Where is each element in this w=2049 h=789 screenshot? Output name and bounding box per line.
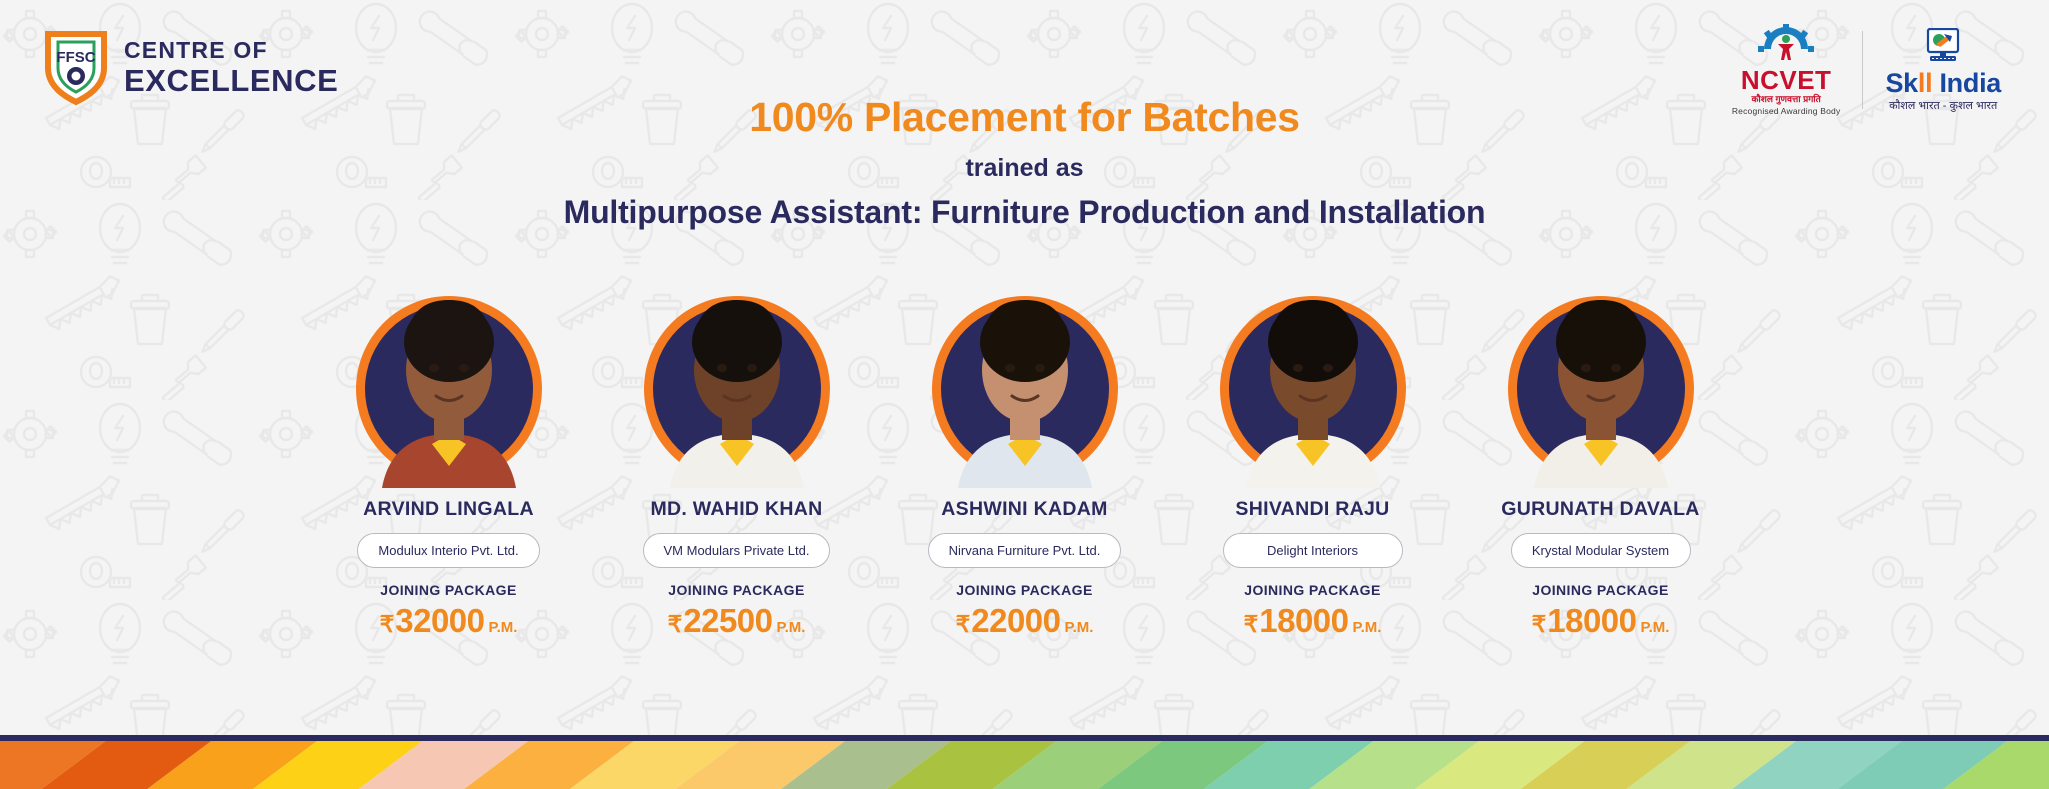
company-pill: VM Modulars Private Ltd. <box>643 533 831 568</box>
per-month-label: P.M. <box>1065 619 1094 636</box>
avatar-portrait <box>638 238 836 488</box>
package-value: 18000 <box>1547 602 1636 640</box>
avatar-shivandi <box>1220 296 1406 482</box>
per-month-label: P.M. <box>1641 619 1670 636</box>
skill-india-name-part3: India <box>1932 68 2001 98</box>
logo-title-line2: EXCELLENCE <box>124 65 338 96</box>
rupee-symbol: ₹ <box>1244 611 1259 638</box>
headline-course: Multipurpose Assistant: Furniture Produc… <box>0 194 2049 231</box>
joining-package-amount: ₹18000P.M. <box>1532 602 1670 640</box>
rupee-symbol: ₹ <box>380 611 395 638</box>
joining-package-label: JOINING PACKAGE <box>1244 582 1380 598</box>
placement-card: ARVIND LINGALAModulux Interio Pvt. Ltd.J… <box>329 296 569 640</box>
avatar-portrait <box>1214 238 1412 488</box>
avatar-portrait <box>1502 238 1700 488</box>
package-value: 22500 <box>683 602 772 640</box>
placement-card: ASHWINI KADAMNirvana Furniture Pvt. Ltd.… <box>905 296 1145 640</box>
ffsc-badge-text: FFSC <box>56 49 95 66</box>
skill-india-name: Skll India <box>1885 70 2001 97</box>
package-value: 22000 <box>971 602 1060 640</box>
joining-package-amount: ₹22000P.M. <box>956 602 1094 640</box>
person-name: MD. WAHID KHAN <box>650 498 822 521</box>
joining-package-label: JOINING PACKAGE <box>380 582 516 598</box>
person-name: SHIVANDI RAJU <box>1235 498 1389 521</box>
ffsc-centre-of-excellence-logo: FFSC CENTRE OF EXCELLENCE <box>44 28 338 106</box>
rupee-symbol: ₹ <box>956 611 971 638</box>
person-name: ARVIND LINGALA <box>363 498 534 521</box>
joining-package-amount: ₹22500P.M. <box>668 602 806 640</box>
package-value: 32000 <box>395 602 484 640</box>
per-month-label: P.M. <box>777 619 806 636</box>
headline-sub: trained as <box>0 154 2049 183</box>
logo-title-line1: CENTRE OF <box>124 39 338 62</box>
ncvet-name: NCVET <box>1741 67 1832 93</box>
company-pill: Nirvana Furniture Pvt. Ltd. <box>928 533 1122 568</box>
rupee-symbol: ₹ <box>668 611 683 638</box>
skill-india-name-part1: Sk <box>1885 68 1917 98</box>
placement-card: SHIVANDI RAJUDelight InteriorsJOINING PA… <box>1193 296 1433 640</box>
joining-package-label: JOINING PACKAGE <box>668 582 804 598</box>
shield-gear-icon: FFSC <box>44 28 108 106</box>
company-pill: Krystal Modular System <box>1511 533 1691 568</box>
avatar-gurunath <box>1508 296 1694 482</box>
company-pill: Delight Interiors <box>1223 533 1403 568</box>
avatar-portrait <box>926 238 1124 488</box>
headline-block: 100% Placement for Batches trained as Mu… <box>0 96 2049 231</box>
joining-package-amount: ₹18000P.M. <box>1244 602 1382 640</box>
footer-stripe-band <box>0 741 2049 789</box>
placement-card: MD. WAHID KHANVM Modulars Private Ltd.JO… <box>617 296 857 640</box>
placement-card: GURUNATH DAVALAKrystal Modular SystemJOI… <box>1481 296 1721 640</box>
joining-package-amount: ₹32000P.M. <box>380 602 518 640</box>
avatar-wahid <box>644 296 830 482</box>
skill-india-name-part2: ll <box>1918 68 1932 98</box>
placement-cards: ARVIND LINGALAModulux Interio Pvt. Ltd.J… <box>0 296 2049 640</box>
company-pill: Modulux Interio Pvt. Ltd. <box>357 533 539 568</box>
avatar-ashwini <box>932 296 1118 482</box>
headline-main: 100% Placement for Batches <box>0 96 2049 139</box>
ncvet-gear-emblem-icon <box>1749 24 1823 66</box>
joining-package-label: JOINING PACKAGE <box>956 582 1092 598</box>
joining-package-label: JOINING PACKAGE <box>1532 582 1668 598</box>
avatar-arvind <box>356 296 542 482</box>
per-month-label: P.M. <box>489 619 518 636</box>
per-month-label: P.M. <box>1353 619 1382 636</box>
avatar-portrait <box>350 238 548 488</box>
skill-india-monitor-icon <box>1922 28 1964 66</box>
placement-banner: FFSC CENTRE OF EXCELLENCE <box>0 0 2049 789</box>
person-name: GURUNATH DAVALA <box>1501 498 1699 521</box>
rupee-symbol: ₹ <box>1532 611 1547 638</box>
package-value: 18000 <box>1259 602 1348 640</box>
person-name: ASHWINI KADAM <box>941 498 1107 521</box>
